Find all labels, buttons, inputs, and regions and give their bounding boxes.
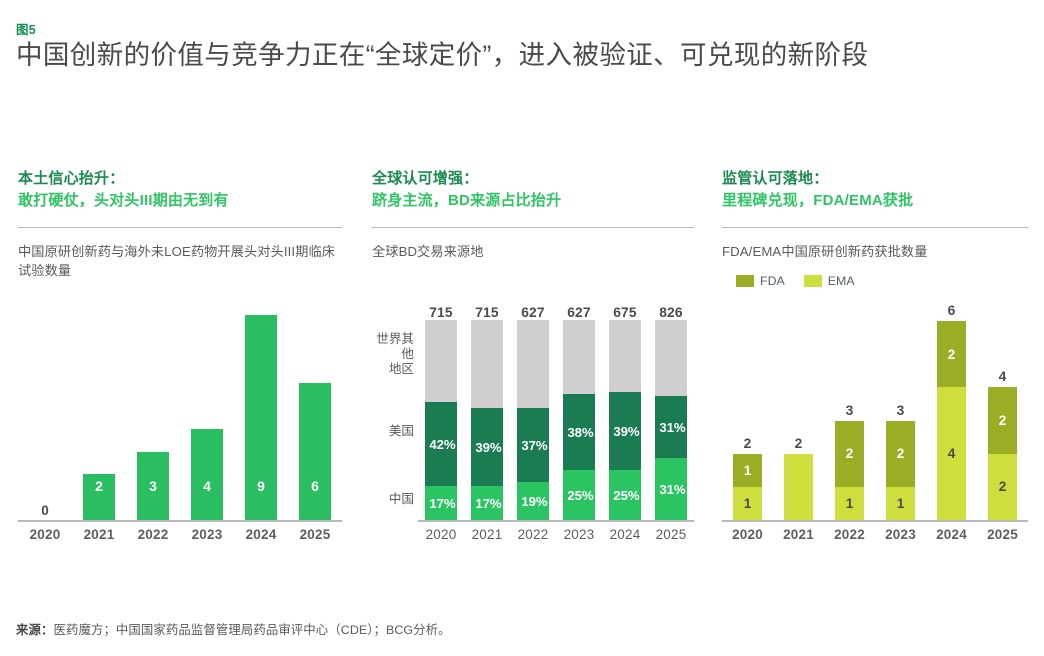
chart-bd-deal-origin: 715715627627675826 世界其他地区美国中国 42%17%39%1… [372, 305, 694, 542]
chart2-segment: 37% [517, 408, 548, 482]
chart3-segment: 1 [835, 487, 864, 520]
chart1-column: 3 [126, 292, 180, 520]
chart1-column: 4 [180, 292, 234, 520]
chart1-x-tick: 2020 [18, 527, 72, 542]
panel1-kicker-line1: 本土信心抬升： [18, 168, 342, 190]
chart1-x-tick: 2022 [126, 527, 180, 542]
chart2-stack: 38%25% [563, 320, 594, 520]
source-label: 来源： [16, 623, 53, 637]
chart3-total-label: 4 [999, 369, 1007, 384]
panel1-kicker-line2: 敢打硬仗，头对头III期由无到有 [18, 190, 342, 212]
chart2-segment-value: 31% [655, 420, 685, 435]
chart2-segment-value: 17% [425, 496, 455, 511]
chart2-column: 31%31% [648, 320, 694, 520]
chart2-segment-value: 39% [471, 440, 501, 455]
chart3-x-tick: 2020 [722, 527, 773, 542]
chart2-segment: 31% [655, 396, 686, 458]
chart1-zero-label: 0 [41, 503, 49, 520]
chart2-total: 675 [602, 305, 648, 320]
chart3-segment: 2 [988, 454, 1017, 520]
chart3-segment-value: 1 [744, 496, 752, 511]
chart-fda-ema-approvals: FDAEMA 2112321321624422 2020202120222023… [722, 274, 1028, 542]
chart3-segment: 2 [937, 321, 966, 387]
chart2-segment [655, 320, 686, 396]
chart2-axis-row [372, 520, 694, 522]
chart3-legend-item[interactable]: EMA [804, 274, 855, 288]
chart3-plot: 2112321321624422 [722, 294, 1028, 520]
chart2-segment-value: 37% [517, 438, 547, 453]
chart2-x-tick: 2025 [648, 527, 694, 542]
chart2-stacks: 42%17%39%17%37%19%38%25%39%25%31%31% [418, 320, 694, 520]
chart3-x-tick: 2021 [773, 527, 824, 542]
chart2-segment [517, 320, 548, 408]
chart3-axis [722, 520, 1028, 522]
panel2-divider [372, 227, 694, 228]
chart2-segment [563, 320, 594, 394]
chart3-total-label: 3 [846, 403, 854, 418]
chart2-segment-value: 42% [425, 437, 455, 452]
chart1-column: 0 [18, 292, 72, 520]
panel3-divider [722, 227, 1028, 228]
chart3-stack: 24 [937, 321, 966, 520]
panels-container: 本土信心抬升： 敢打硬仗，头对头III期由无到有 中国原研创新药与海外未LOE药… [0, 168, 1044, 600]
chart1-bar: 2 [83, 474, 114, 520]
figure-page: 图5 中国创新的价值与竞争力正在“全球定价”，进入被验证、可兑现的新阶段 本土信… [0, 0, 1044, 656]
chart3-segment-value: 2 [999, 479, 1007, 494]
chart2-column: 42%17% [418, 320, 464, 520]
chart3-segment-value: 4 [948, 446, 956, 461]
chart3-column: 422 [977, 294, 1028, 520]
chart2-segment-value: 25% [563, 488, 593, 503]
chart-head-to-head-trials: 023496 202020212022202320242025 [18, 292, 342, 542]
chart2-column: 38%25% [556, 320, 602, 520]
chart3-x-labels: 202020212022202320242025 [722, 527, 1028, 542]
chart2-y-labels: 世界其他地区美国中国 [372, 320, 418, 520]
chart2-segment: 25% [563, 470, 594, 520]
chart3-stack: 21 [886, 421, 915, 520]
chart2-segment: 17% [425, 486, 456, 520]
chart3-total-label: 3 [897, 403, 905, 418]
chart3-legend: FDAEMA [722, 274, 1028, 288]
chart1-bar: 3 [137, 452, 168, 520]
panel3-kicker-line2: 里程碑兑现，FDA/EMA获批 [722, 190, 1028, 212]
chart2-total-labels: 715715627627675826 [418, 305, 694, 320]
chart3-x-tick: 2025 [977, 527, 1028, 542]
chart2-stack: 31%31% [655, 320, 686, 520]
chart2-x-tick: 2021 [464, 527, 510, 542]
chart2-segment: 25% [609, 470, 640, 520]
chart3-segment-value: 2 [948, 347, 956, 362]
page-title: 中国创新的价值与竞争力正在“全球定价”，进入被验证、可兑现的新阶段 [16, 36, 1031, 74]
chart3-column: 211 [722, 294, 773, 520]
chart3-stack: 22 [988, 387, 1017, 520]
panel-local-confidence: 本土信心抬升： 敢打硬仗，头对头III期由无到有 中国原研创新药与海外未LOE药… [0, 168, 358, 600]
chart2-segment-value: 38% [563, 425, 593, 440]
chart2-total: 715 [418, 305, 464, 320]
chart2-stack: 39%25% [609, 320, 640, 520]
legend-swatch-icon [804, 275, 822, 287]
chart2-total: 826 [648, 305, 694, 320]
source-text: 医药魔方；中国国家药品监督管理局药品审评中心（CDE）；BCG分析。 [53, 623, 450, 637]
chart2-row-label: 世界其他地区 [372, 332, 414, 377]
chart2-column: 39%25% [602, 320, 648, 520]
chart1-x-tick: 2025 [288, 527, 342, 542]
chart2-row-label: 美国 [389, 424, 414, 439]
chart3-x-tick: 2022 [824, 527, 875, 542]
chart3-legend-item[interactable]: FDA [736, 274, 785, 288]
chart3-stack: 21 [835, 421, 864, 520]
chart3-segment-value: 2 [897, 446, 905, 461]
chart1-column: 2 [72, 292, 126, 520]
chart3-segment: 1 [733, 487, 762, 520]
chart1-bar-value: 2 [95, 478, 103, 520]
chart1-bar: 6 [299, 383, 330, 520]
chart1-x-tick: 2024 [234, 527, 288, 542]
chart3-segment: 2 [988, 387, 1017, 453]
chart2-segment: 39% [471, 408, 502, 486]
panel2-kicker-line2: 跻身主流，BD来源占比抬升 [372, 190, 694, 212]
chart2-stack: 39%17% [471, 320, 502, 520]
chart2-segment [425, 320, 456, 402]
chart2-x-labels: 202020212022202320242025 [418, 527, 694, 542]
chart2-total: 627 [556, 305, 602, 320]
chart2-column: 37%19% [510, 320, 556, 520]
chart2-segment-value: 39% [609, 424, 639, 439]
panel1-caption: 中国原研创新药与海外未LOE药物开展头对头III期临床试验数量 [18, 242, 342, 280]
chart1-column: 9 [234, 292, 288, 520]
chart3-segment-value: 1 [744, 463, 752, 478]
chart2-body: 世界其他地区美国中国 42%17%39%17%37%19%38%25%39%25… [372, 320, 694, 520]
chart3-segment: 2 [886, 421, 915, 487]
panel-global-recognition: 全球认可增强： 跻身主流，BD来源占比抬升 全球BD交易来源地 71571562… [358, 168, 708, 600]
chart1-plot: 023496 [18, 292, 342, 520]
chart1-bar: 9 [245, 315, 276, 520]
chart2-segment-value: 25% [609, 488, 639, 503]
chart1-column: 6 [288, 292, 342, 520]
chart3-segment: 2 [835, 421, 864, 487]
chart1-bar-value: 9 [257, 478, 265, 520]
panel2-kicker-line1: 全球认可增强： [372, 168, 694, 190]
chart3-segment: 4 [937, 387, 966, 520]
chart3-segment: 1 [886, 487, 915, 520]
chart3-stack: 11 [733, 454, 762, 520]
chart1-bar-value: 3 [149, 478, 157, 520]
chart3-legend-label: FDA [760, 274, 785, 288]
chart3-segment-value: 1 [897, 496, 905, 511]
chart1-bar-value: 4 [203, 478, 211, 520]
chart3-total-label: 6 [948, 303, 956, 318]
chart2-segment-value: 19% [517, 494, 547, 509]
chart2-axis-pad [372, 520, 418, 522]
chart2-x-tick: 2023 [556, 527, 602, 542]
chart3-segment-value: 2 [846, 446, 854, 461]
chart3-column: 2 [773, 294, 824, 520]
chart2-segment [471, 320, 502, 408]
chart3-segment-value: 1 [846, 496, 854, 511]
chart2-segment: 42% [425, 402, 456, 486]
chart2-x-tick: 2022 [510, 527, 556, 542]
chart2-stack: 37%19% [517, 320, 548, 520]
chart3-column: 624 [926, 294, 977, 520]
chart3-column: 321 [875, 294, 926, 520]
panel2-caption: 全球BD交易来源地 [372, 242, 694, 261]
chart2-segment: 39% [609, 392, 640, 470]
chart1-x-labels: 202020212022202320242025 [18, 527, 342, 542]
chart2-segment-value: 31% [655, 482, 685, 497]
chart2-column: 39%17% [464, 320, 510, 520]
chart1-x-tick: 2021 [72, 527, 126, 542]
chart2-axis [418, 520, 694, 522]
panel3-kicker-line1: 监管认可落地： [722, 168, 1028, 190]
chart3-total-label: 2 [795, 436, 803, 451]
panel2-kicker: 全球认可增强： 跻身主流，BD来源占比抬升 [372, 168, 694, 211]
chart1-axis [18, 520, 342, 522]
chart1-bar: 4 [191, 429, 222, 520]
chart3-legend-label: EMA [828, 274, 855, 288]
chart2-segment: 38% [563, 394, 594, 470]
chart2-total: 627 [510, 305, 556, 320]
legend-swatch-icon [736, 275, 754, 287]
chart2-x-tick: 2020 [418, 527, 464, 542]
source-note: 来源：医药魔方；中国国家药品监督管理局药品审评中心（CDE）；BCG分析。 [16, 620, 451, 638]
chart3-total-label: 2 [744, 436, 752, 451]
chart2-row-label: 中国 [389, 492, 414, 507]
chart2-segment-value: 17% [471, 496, 501, 511]
chart1-x-tick: 2023 [180, 527, 234, 542]
chart2-segment: 19% [517, 482, 548, 520]
panel1-divider [18, 227, 342, 228]
chart3-segment: 1 [733, 454, 762, 487]
panel3-kicker: 监管认可落地： 里程碑兑现，FDA/EMA获批 [722, 168, 1028, 211]
chart3-segment-value: 2 [999, 413, 1007, 428]
panel3-caption: FDA/EMA中国原研创新药获批数量 [722, 242, 1028, 261]
chart2-total: 715 [464, 305, 510, 320]
panel-regulatory-approvals: 监管认可落地： 里程碑兑现，FDA/EMA获批 FDA/EMA中国原研创新药获批… [708, 168, 1044, 600]
chart3-segment [784, 454, 813, 520]
chart3-column: 321 [824, 294, 875, 520]
chart2-x-tick: 2024 [602, 527, 648, 542]
chart2-stack: 42%17% [425, 320, 456, 520]
chart3-x-tick: 2024 [926, 527, 977, 542]
chart2-segment: 17% [471, 486, 502, 520]
chart2-segment: 31% [655, 458, 686, 520]
chart3-x-tick: 2023 [875, 527, 926, 542]
panel1-kicker: 本土信心抬升： 敢打硬仗，头对头III期由无到有 [18, 168, 342, 211]
chart1-bar-value: 6 [311, 478, 319, 520]
chart3-stack [784, 454, 813, 520]
chart2-segment [609, 320, 640, 392]
